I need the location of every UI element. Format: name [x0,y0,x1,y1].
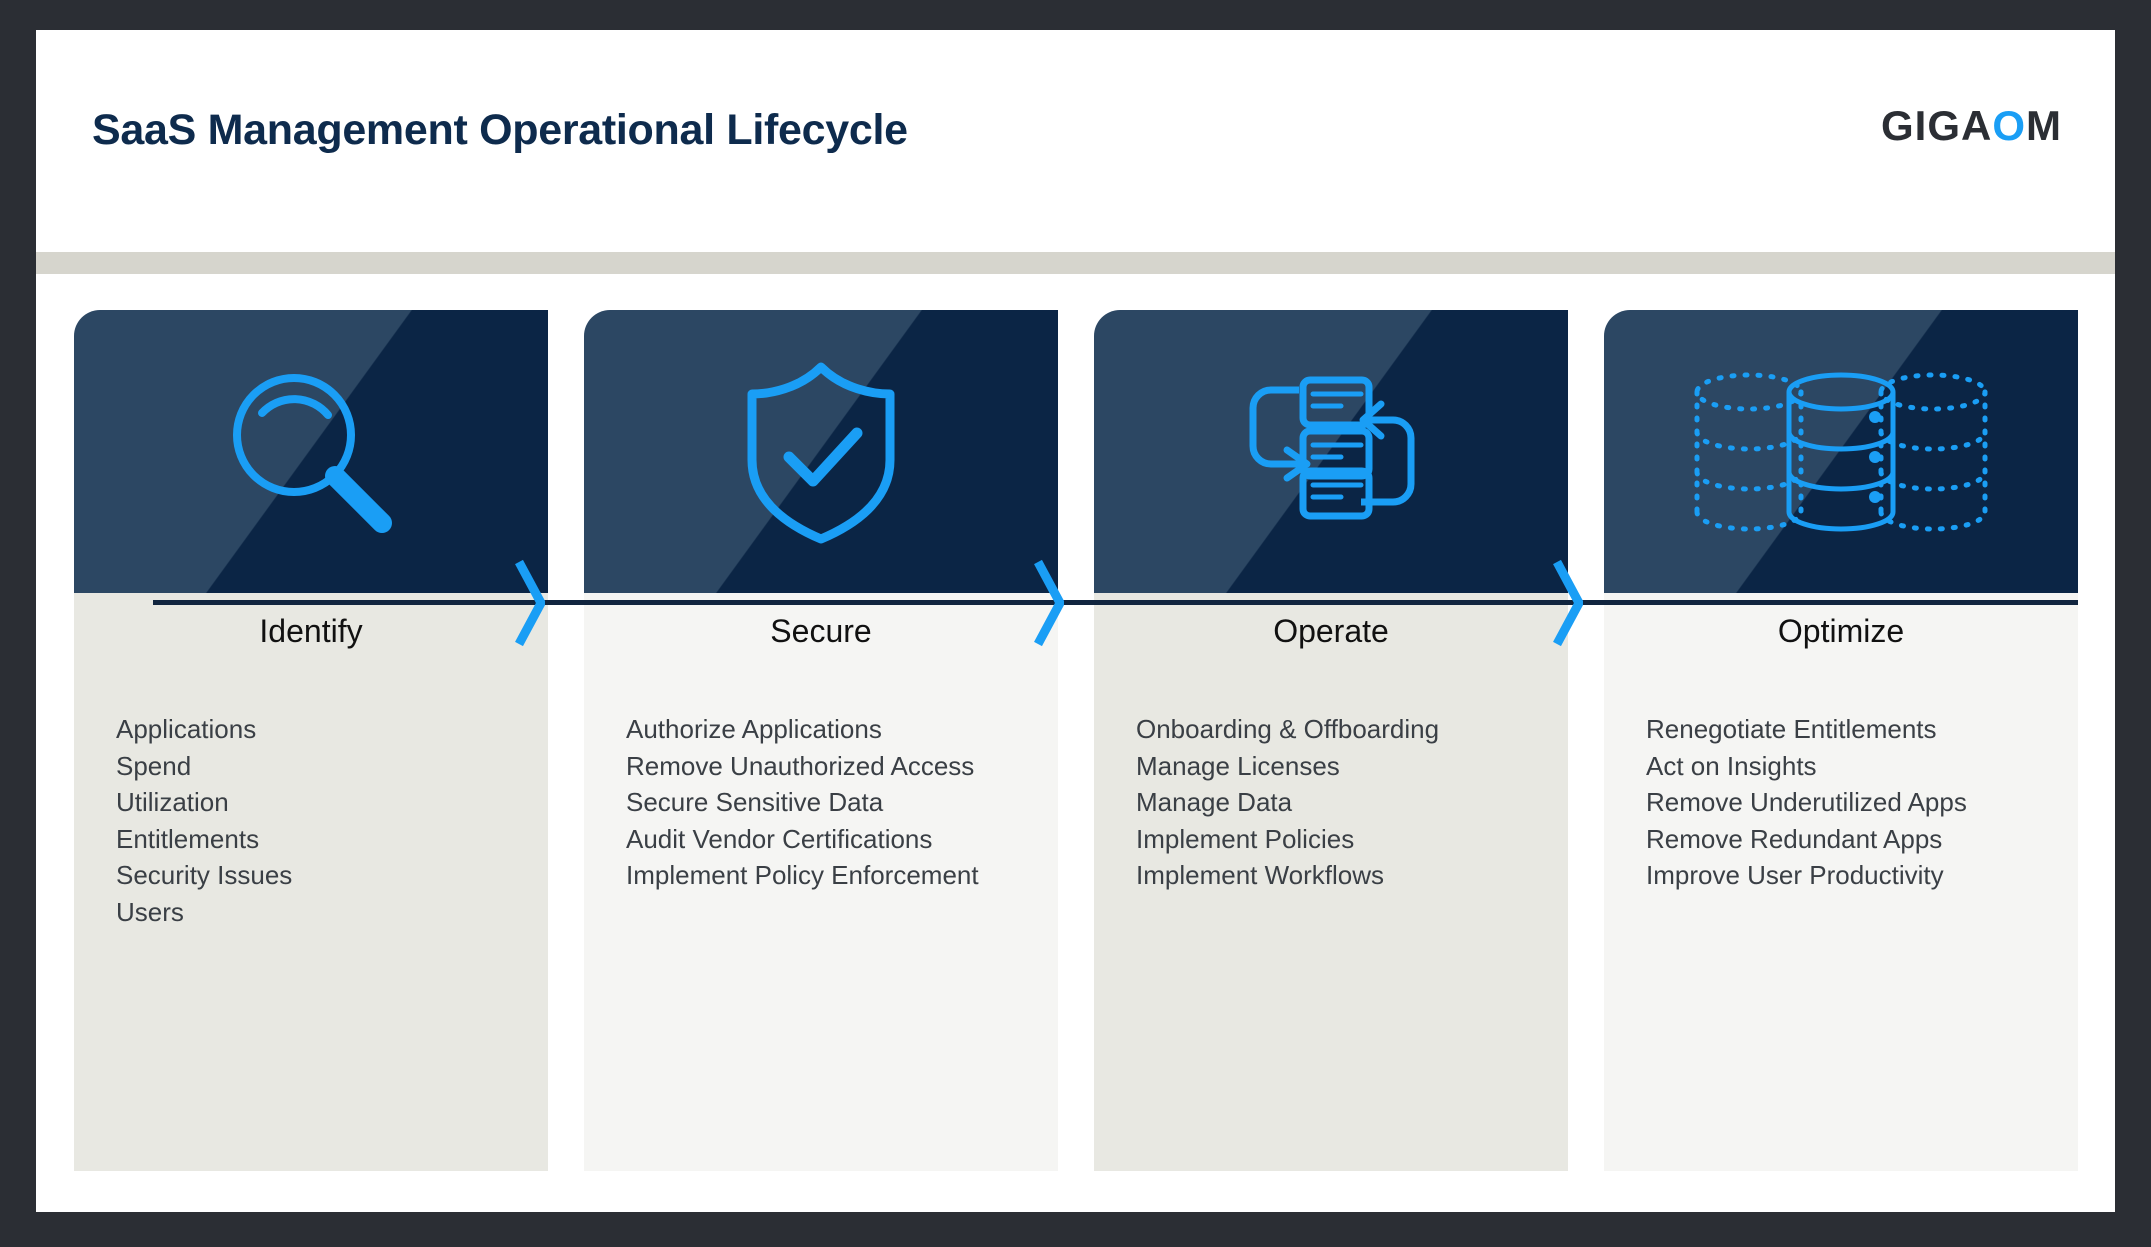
gigaom-logo: GIGAOM [1881,102,2062,150]
stage-body-secure: Secure Authorize Applications Remove Una… [584,593,1058,1171]
logo-text-o: O [1992,102,2026,149]
slide-frame: SaaS Management Operational Lifecycle GI… [36,30,2115,1212]
list-item: Secure Sensitive Data [626,784,1048,821]
stage-body-optimize: Optimize Renegotiate Entitlements Act on… [1604,593,2078,1171]
list-item: Onboarding & Offboarding [1136,711,1558,748]
list-item: Remove Redundant Apps [1646,821,2068,858]
list-item: Remove Unauthorized Access [626,748,1048,785]
lifecycle-stage-area: Identify Applications Spend Utilization … [36,274,2115,1212]
list-item: Act on Insights [1646,748,2068,785]
list-item: Implement Policies [1136,821,1558,858]
stage-visual-optimize [1604,310,2078,593]
stage-items-optimize: Renegotiate Entitlements Act on Insights… [1646,711,2068,894]
stage-card-operate[interactable]: Operate Onboarding & Offboarding Manage … [1094,310,1568,1171]
list-item: Remove Underutilized Apps [1646,784,2068,821]
list-item: Utilization [116,784,538,821]
list-item: Spend [116,748,538,785]
stage-label-operate: Operate [1094,613,1568,650]
list-item: Authorize Applications [626,711,1048,748]
page-title: SaaS Management Operational Lifecycle [92,106,908,155]
stage-items-identify: Applications Spend Utilization Entitleme… [116,711,538,930]
header-divider [36,252,2115,274]
stage-label-identify: Identify [74,613,548,650]
stage-visual-identify [74,310,548,593]
list-item: Applications [116,711,538,748]
stage-body-identify: Identify Applications Spend Utilization … [74,593,548,1171]
logo-text-m: M [2026,102,2062,149]
stage-items-operate: Onboarding & Offboarding Manage Licenses… [1136,711,1558,894]
shield-check-icon [731,357,911,547]
list-item: Entitlements [116,821,538,858]
stage-label-secure: Secure [584,613,1058,650]
stage-card-optimize[interactable]: Optimize Renegotiate Entitlements Act on… [1604,310,2078,1171]
list-item: Audit Vendor Certifications [626,821,1048,858]
slide-header: SaaS Management Operational Lifecycle GI… [36,30,2115,252]
list-item: Security Issues [116,857,538,894]
stage-body-operate: Operate Onboarding & Offboarding Manage … [1094,593,1568,1171]
stage-card-list: Identify Applications Spend Utilization … [74,310,2078,1171]
stage-visual-secure [584,310,1058,593]
list-item: Implement Policy Enforcement [626,857,1048,894]
logo-text-giga: GIGA [1881,102,1992,149]
stage-items-secure: Authorize Applications Remove Unauthoriz… [626,711,1048,894]
stage-label-optimize: Optimize [1604,613,2078,650]
list-item: Manage Licenses [1136,748,1558,785]
stage-card-identify[interactable]: Identify Applications Spend Utilization … [74,310,548,1171]
database-stack-icon [1691,362,1991,542]
list-item: Improve User Productivity [1646,857,2068,894]
workflow-cards-icon [1221,352,1441,552]
list-item: Users [116,894,538,931]
list-item: Implement Workflows [1136,857,1558,894]
stage-visual-operate [1094,310,1568,593]
stage-card-secure[interactable]: Secure Authorize Applications Remove Una… [584,310,1058,1171]
list-item: Manage Data [1136,784,1558,821]
list-item: Renegotiate Entitlements [1646,711,2068,748]
magnifier-icon [216,357,406,547]
